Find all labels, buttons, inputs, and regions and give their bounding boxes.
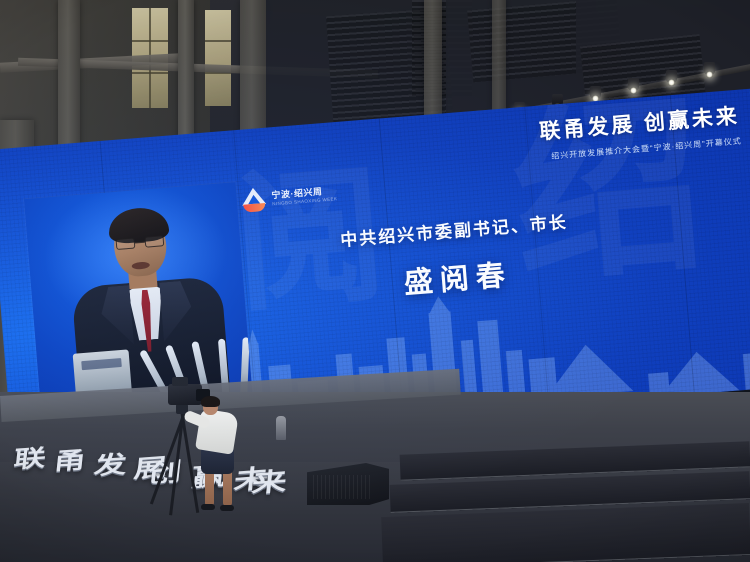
operator-leg (223, 470, 232, 506)
floor-letter: 甬 (52, 441, 87, 477)
photo-scene: 阅 绍 (0, 0, 750, 562)
stage-lamp-icon (704, 62, 715, 75)
live-video-feed (24, 182, 253, 413)
floor-letter: 来 (250, 461, 289, 501)
window-icon (205, 10, 231, 106)
floor-letter: 发 (92, 444, 129, 481)
podium-plate (81, 358, 122, 370)
logo-text: 宁波·绍兴周 NINGBO SHAOXING WEEK (271, 185, 337, 207)
floor-letter: 联 (12, 439, 47, 475)
stage-lamp-icon (628, 78, 639, 91)
hall-pillar (424, 0, 442, 130)
operator-shoe (201, 504, 215, 510)
operator-shoe (220, 505, 234, 511)
stage-lamp-icon (666, 70, 677, 83)
camera-viewfinder-icon (172, 377, 188, 386)
stage-lamp-icon (590, 86, 601, 99)
speaker-grille (313, 475, 371, 499)
operator-hair (201, 396, 220, 407)
operator-leg (205, 470, 214, 506)
hall-pillar (492, 0, 506, 110)
logo-triangle-icon (240, 186, 268, 214)
background-person (276, 416, 286, 440)
